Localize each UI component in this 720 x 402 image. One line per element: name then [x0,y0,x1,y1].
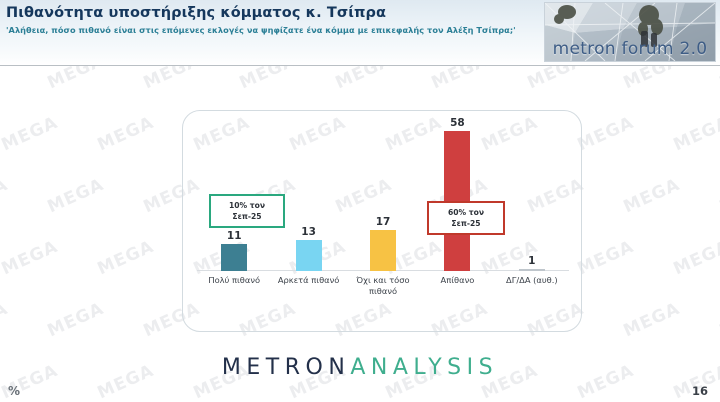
chart-container: 11 13 17 58 1 [182,110,582,332]
watermark-text: MEGA [621,299,684,342]
callout-line-2: Σεπ-25 [435,218,497,229]
callout-september-low: 10% τον Σεπ-25 [209,194,285,228]
page-number: 16 [692,384,708,398]
bar-value-label: 1 [528,256,535,267]
brand-secondary: ANALYSIS [350,355,498,380]
bar-value-label: 11 [227,231,242,242]
bar-rect[interactable] [221,244,247,271]
bar-group-4[interactable]: 1 [495,111,569,271]
watermark-text: MEGA [45,299,108,342]
watermark-text: MEGA [575,237,638,280]
page-subtitle: 'Αλήθεια, πόσο πιθανό είναι στις επόμενε… [6,25,536,37]
header-text-block: Πιθανότητα υποστήριξης κόμματος κ. Τσίπρ… [6,4,536,37]
bar-group-0[interactable]: 11 [197,111,271,271]
bar-value-label: 17 [376,217,391,228]
watermark-text: MEGA [95,237,158,280]
watermark-text: MEGA [0,237,61,280]
metron-forum-logo: metron forum 2.0 [544,2,716,62]
watermark-text: MEGA [0,113,61,156]
x-axis-tick-label: Όχι και τόσο πιθανό [346,275,420,297]
callout-line-1: 60% τον [435,207,497,218]
watermark-text: MEGA [671,113,720,156]
watermark-text: MEGA [717,175,720,218]
bar-value-label: 13 [301,227,316,238]
x-axis-tick-label: ΔΓ/ΔΑ (αυθ.) [495,275,569,297]
x-axis-labels: Πολύ πιθανό Αρκετά πιθανό Όχι και τόσο π… [197,275,569,297]
callout-september-high: 60% τον Σεπ-25 [427,201,505,235]
bar-group-2[interactable]: 17 [346,111,420,271]
forum-logo-label: metron forum 2.0 [545,39,715,59]
watermark-text: MEGA [0,299,11,342]
x-axis-tick-label: Απίθανο [420,275,494,297]
watermark-text: MEGA [95,113,158,156]
callout-line-2: Σεπ-25 [217,211,277,222]
bars-row: 11 13 17 58 1 [197,111,569,271]
x-axis-tick-label: Αρκετά πιθανό [271,275,345,297]
bar-chart: 11 13 17 58 1 [183,111,583,333]
watermark-text: MEGA [575,113,638,156]
slide: MEGAMEGAMEGAMEGAMEGAMEGAMEGAMEGAMEGAMEGA… [0,0,720,402]
brand-primary: METRON [222,355,350,380]
bar-group-3[interactable]: 58 [420,111,494,271]
callout-line-1: 10% τον [217,200,277,211]
bar-rect[interactable] [370,230,396,271]
metron-analysis-logo: METRONANALYSIS [0,355,720,380]
bar-group-1[interactable]: 13 [271,111,345,271]
watermark-text: MEGA [621,175,684,218]
watermark-text: MEGA [45,175,108,218]
bar-rect[interactable] [296,240,322,271]
percent-unit-mark: % [8,384,20,398]
page-title: Πιθανότητα υποστήριξης κόμματος κ. Τσίπρ… [6,4,536,22]
x-axis-tick-label: Πολύ πιθανό [197,275,271,297]
bar-value-label: 58 [450,118,465,129]
slide-header: Πιθανότητα υποστήριξης κόμματος κ. Τσίπρ… [0,0,720,66]
watermark-text: MEGA [0,175,11,218]
watermark-text: MEGA [717,299,720,342]
bar-rect[interactable] [519,269,545,271]
watermark-text: MEGA [671,237,720,280]
